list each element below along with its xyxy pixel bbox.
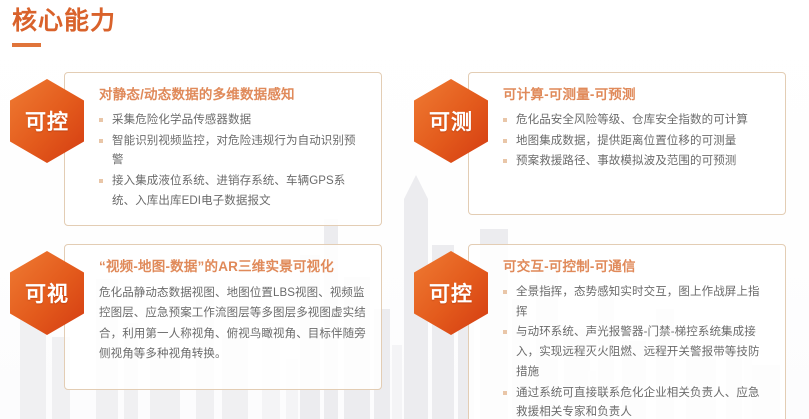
list-item-text: 智能识别视频监控，对危险违规行为自动识别预警 xyxy=(112,135,356,167)
list-item-text: 接入集成液位系统、进销存系统、车辆GPS系统、入库出库EDI电子数据报文 xyxy=(112,175,345,207)
list-item: 预案救援路径、事故模拟波及范围的可预测 xyxy=(503,152,771,172)
capability-badge-1: 可控 xyxy=(8,78,86,164)
bullet-square-icon xyxy=(503,330,507,334)
list-item: 接入集成液位系统、进销存系统、车辆GPS系统、入库出库EDI电子数据报文 xyxy=(99,172,367,212)
capability-heading-3: “视频-地图-数据”的AR三维实景可视化 xyxy=(99,259,367,276)
list-item-text: 通过系统可直接联系危化企业相关负责人、应急救援相关专家和负责人 xyxy=(516,387,760,419)
capability-block-3: “视频-地图-数据”的AR三维实景可视化 危化品静动态数据视图、地图位置LBS视… xyxy=(0,230,404,402)
bullet-square-icon xyxy=(503,391,507,395)
list-item-text: 预案救援路径、事故模拟波及范围的可预测 xyxy=(516,155,736,167)
title-block: 核心能力 xyxy=(12,8,116,47)
capability-badge-4: 可控 xyxy=(412,250,490,336)
list-item: 采集危险化学品传感器数据 xyxy=(99,111,367,131)
capability-bullet-list-2: 危化品安全风险等级、仓库安全指数的可计算 地图集成数据，提供距离位置位移的可测量… xyxy=(503,111,771,172)
capability-card-1: 对静态/动态数据的多维数据感知 采集危险化学品传感器数据 智能识别视频监控，对危… xyxy=(64,72,382,226)
capability-block-1: 对静态/动态数据的多维数据感知 采集危险化学品传感器数据 智能识别视频监控，对危… xyxy=(0,58,404,230)
title-underline-rule xyxy=(12,43,41,47)
list-item: 危化品安全风险等级、仓库安全指数的可计算 xyxy=(503,111,771,131)
bullet-square-icon xyxy=(503,139,507,143)
capability-badge-3: 可视 xyxy=(8,250,86,336)
capability-badge-label-3: 可视 xyxy=(8,250,86,336)
list-item-text: 采集危险化学品传感器数据 xyxy=(112,114,251,126)
capability-badge-label-4: 可控 xyxy=(412,250,490,336)
capability-card-2: 可计算-可测量-可预测 危化品安全风险等级、仓库安全指数的可计算 地图集成数据，… xyxy=(468,72,786,215)
capability-card-4: 可交互-可控制-可通信 全景指挥，态势感知实时交互，图上作战屏上指挥 与动环系统… xyxy=(468,244,786,419)
capability-badge-label-2: 可测 xyxy=(412,78,490,164)
capability-paragraph-3: 危化品静动态数据视图、地图位置LBS视图、视频监控图层、应急预案工作流图层等多图… xyxy=(99,283,367,365)
capability-block-4: 可交互-可控制-可通信 全景指挥，态势感知实时交互，图上作战屏上指挥 与动环系统… xyxy=(404,230,808,402)
page-title: 核心能力 xyxy=(12,8,116,34)
slide-root: 核心能力 对静态/动态数据的多维数据感知 采集危险化学品传感器数据 智能识别视频… xyxy=(0,0,809,419)
bullet-square-icon xyxy=(99,139,103,143)
bullet-square-icon xyxy=(99,118,103,122)
capability-bullet-list-4: 全景指挥，态势感知实时交互，图上作战屏上指挥 与动环系统、声光报警器-门禁-梯控… xyxy=(503,283,771,419)
capability-heading-4: 可交互-可控制-可通信 xyxy=(503,259,771,276)
list-item-text: 全景指挥，态势感知实时交互，图上作战屏上指挥 xyxy=(516,286,760,318)
capability-bullet-list-1: 采集危险化学品传感器数据 智能识别视频监控，对危险违规行为自动识别预警 接入集成… xyxy=(99,111,367,212)
list-item-text: 地图集成数据，提供距离位置位移的可测量 xyxy=(516,135,736,147)
list-item: 与动环系统、声光报警器-门禁-梯控系统集成接入，实现远程灭火阻燃、远程开关警报带… xyxy=(503,323,771,382)
bullet-square-icon xyxy=(503,159,507,163)
bullet-square-icon xyxy=(503,290,507,294)
list-item-text: 与动环系统、声光报警器-门禁-梯控系统集成接入，实现远程灭火阻燃、远程开关警报带… xyxy=(516,326,760,378)
bullet-square-icon xyxy=(503,118,507,122)
capability-heading-1: 对静态/动态数据的多维数据感知 xyxy=(99,87,367,104)
capability-badge-2: 可测 xyxy=(412,78,490,164)
list-item-text: 危化品安全风险等级、仓库安全指数的可计算 xyxy=(516,114,748,126)
bullet-square-icon xyxy=(99,179,103,183)
capability-block-2: 可计算-可测量-可预测 危化品安全风险等级、仓库安全指数的可计算 地图集成数据，… xyxy=(404,58,808,230)
capability-heading-2: 可计算-可测量-可预测 xyxy=(503,87,771,104)
capability-grid: 对静态/动态数据的多维数据感知 采集危险化学品传感器数据 智能识别视频监控，对危… xyxy=(0,58,809,413)
capability-badge-label-1: 可控 xyxy=(8,78,86,164)
list-item: 地图集成数据，提供距离位置位移的可测量 xyxy=(503,132,771,152)
capability-card-3: “视频-地图-数据”的AR三维实景可视化 危化品静动态数据视图、地图位置LBS视… xyxy=(64,244,382,390)
list-item: 全景指挥，态势感知实时交互，图上作战屏上指挥 xyxy=(503,283,771,323)
list-item: 通过系统可直接联系危化企业相关负责人、应急救援相关专家和负责人 xyxy=(503,384,771,419)
list-item: 智能识别视频监控，对危险违规行为自动识别预警 xyxy=(99,132,367,172)
